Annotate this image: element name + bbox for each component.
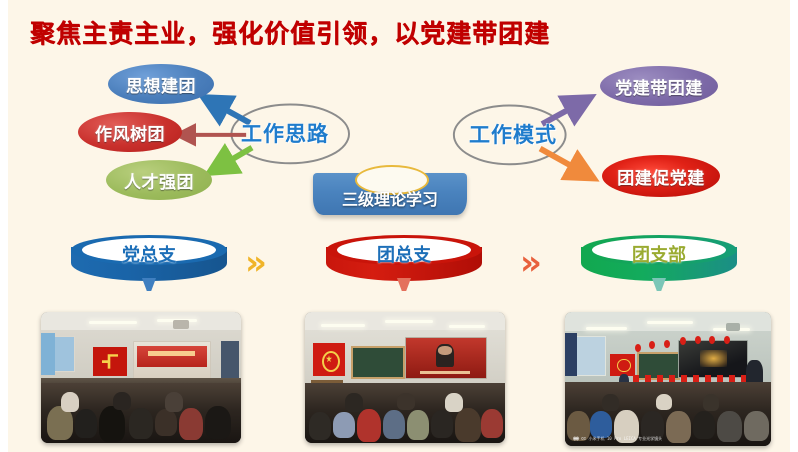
- youth-league-flag: [313, 343, 345, 376]
- ceiling-light: [89, 321, 137, 324]
- audience-head: [383, 410, 405, 439]
- projector: [726, 323, 740, 331]
- ceiling-light: [586, 327, 627, 330]
- node-rencai-qiangtuan[interactable]: 人才强团: [106, 160, 212, 200]
- lantern: [724, 336, 730, 344]
- audience-head: [666, 411, 691, 443]
- ceiling-light: [647, 321, 692, 324]
- curtain: [565, 333, 577, 376]
- arrow-to-rencai: [219, 148, 252, 168]
- flow-item-label: 党总支: [71, 241, 227, 267]
- audience-head: [717, 411, 742, 442]
- audience-head: [445, 393, 463, 411]
- node-sixiang-jiantuan[interactable]: 思想建团: [108, 64, 214, 104]
- audience-head: [703, 394, 719, 411]
- audience-head: [165, 392, 183, 412]
- photo-content: ◉◉©© 小米手机 10 Pro LEICA 专业光学镜头: [565, 312, 771, 446]
- node-label: 作风树团: [95, 120, 165, 145]
- flow-item-league-branch[interactable]: 团总支: [326, 235, 482, 287]
- projector: [173, 320, 189, 329]
- projection-screen: [133, 341, 211, 380]
- arrow-to-tuanjian: [540, 149, 584, 173]
- banner-label: 三级理论学习: [313, 186, 467, 210]
- flow-item-party-branch[interactable]: 党总支: [71, 235, 227, 287]
- audience-head: [75, 409, 97, 438]
- projection-screen: [405, 337, 487, 380]
- photo-content: [305, 312, 505, 443]
- curtain: [41, 333, 55, 375]
- audience-head: [155, 409, 177, 437]
- audience-head: [693, 411, 716, 439]
- audience-head: [407, 410, 429, 440]
- node-label: 思想建团: [126, 72, 196, 97]
- ceiling-light: [449, 325, 485, 328]
- node-label: 人才强团: [124, 168, 194, 193]
- flow-item-label: 团总支: [326, 241, 482, 267]
- node-label: 团建促党建: [617, 164, 705, 189]
- audience-head: [744, 411, 769, 440]
- hammer-sickle-icon: [102, 354, 118, 369]
- right-hub-label: 工作模式: [469, 119, 557, 149]
- node-dangjian-daituanjian[interactable]: 党建带团建: [600, 66, 718, 106]
- node-tuanjian-cudangjian[interactable]: 团建促党建: [602, 155, 720, 197]
- lantern: [664, 340, 670, 348]
- audience-head: [309, 412, 331, 441]
- audience-head: [345, 393, 363, 411]
- audience-head: [113, 392, 131, 410]
- three-level-theory-study-banner[interactable]: 三级理论学习: [313, 173, 467, 215]
- page-title: 聚焦主责主业，强化价值引领，以党建带团建: [30, 14, 550, 50]
- audience-head: [61, 392, 79, 412]
- node-label: 党建带团建: [615, 74, 703, 99]
- league-emblem-ring: [617, 359, 631, 373]
- league-branch-activity-photo[interactable]: ◉◉©© 小米手机 10 Pro LEICA 专业光学镜头: [565, 312, 771, 446]
- screen-gold-text: [700, 350, 727, 367]
- ceiling-light: [385, 320, 433, 323]
- league-emblem-ring: [322, 351, 340, 372]
- flow-separator-2: »: [520, 243, 539, 283]
- audience-head: [99, 406, 125, 441]
- screen-caption: [420, 371, 470, 374]
- audience-head: [590, 411, 613, 438]
- party-emblem-banner: [93, 347, 127, 376]
- audience-head: [431, 410, 453, 438]
- audience-head: [455, 408, 481, 442]
- node-zuofeng-shutuan[interactable]: 作风树团: [78, 112, 182, 152]
- audience-head: [357, 409, 381, 442]
- party-branch-meeting-photo[interactable]: [41, 312, 241, 443]
- photo-ceiling: [41, 312, 241, 330]
- screen-text: [148, 351, 195, 356]
- flow-item-league-sub-branch[interactable]: 团支部: [581, 235, 737, 287]
- audience-head: [481, 409, 503, 438]
- audience-head: [205, 406, 231, 439]
- audience-head: [333, 412, 355, 438]
- projection-screen: [678, 340, 748, 378]
- camera-logo-icon: ◉◉: [573, 436, 578, 441]
- watermark-text: ©© 小米手机 10 Pro LEICA 专业光学镜头: [581, 436, 662, 441]
- screen-speaker-face: [438, 346, 452, 355]
- ceiling-light: [321, 324, 365, 327]
- left-hub-label: 工作思路: [241, 118, 329, 148]
- audience-head: [179, 408, 203, 441]
- screen-content: [137, 346, 207, 367]
- audience-head: [129, 408, 153, 439]
- slide-canvas: 聚焦主责主业，强化价值引领，以党建带团建: [0, 0, 798, 452]
- blackboard: [351, 346, 405, 379]
- youth-league-meeting-photo[interactable]: [305, 312, 505, 443]
- audience-head: [656, 394, 672, 410]
- door: [221, 341, 239, 380]
- audience-head: [397, 393, 415, 410]
- flow-separator-1: »: [245, 243, 264, 283]
- photo-content: [41, 312, 241, 443]
- photo-watermark: ◉◉©© 小米手机 10 Pro LEICA 专业光学镜头: [573, 436, 662, 442]
- audience-head: [602, 394, 618, 411]
- lantern: [695, 336, 701, 344]
- flow-item-label: 团支部: [581, 241, 737, 267]
- youth-league-flag: [610, 354, 635, 377]
